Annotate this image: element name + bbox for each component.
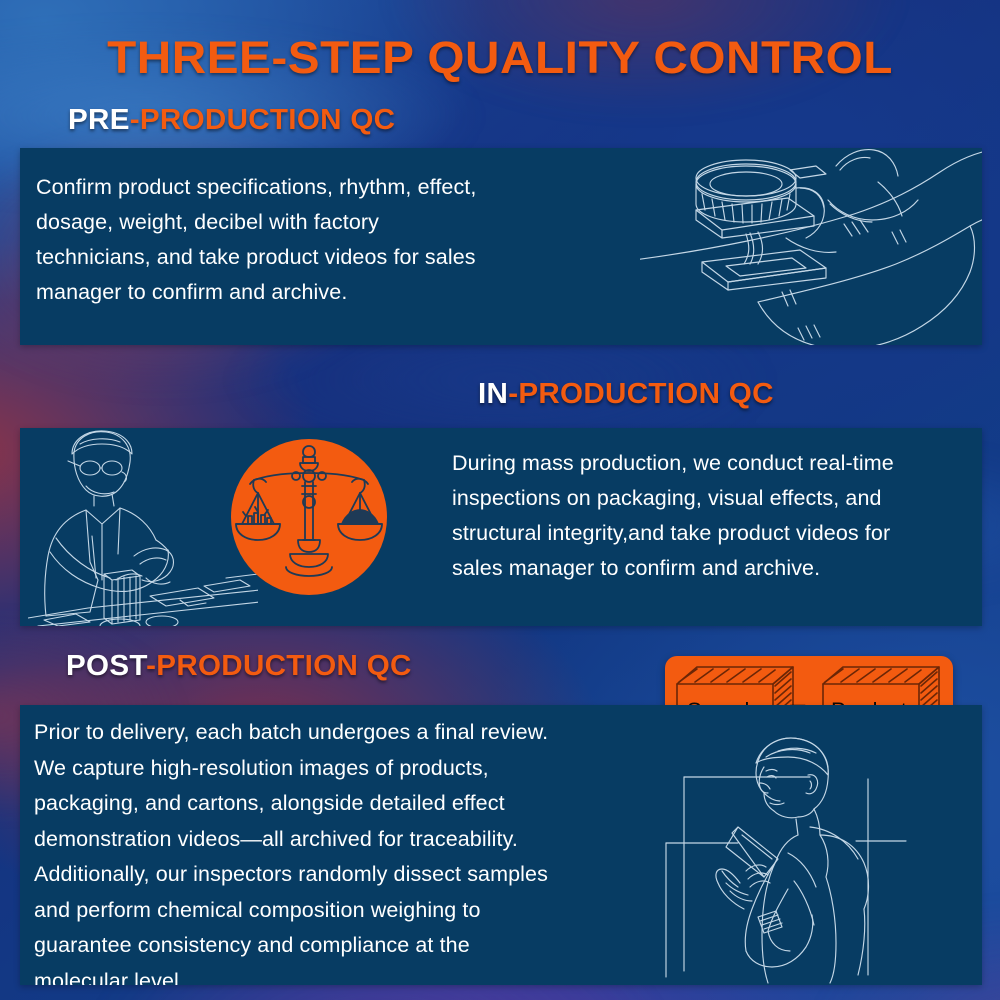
man-with-tablet-sketch — [660, 731, 980, 985]
body-line: Confirm product specifications, rhythm, … — [36, 170, 616, 205]
section-heading-in-production-orange: -PRODUCTION QC — [508, 378, 774, 410]
section-heading-post-production: POST-PRODUCTION QC — [66, 650, 412, 683]
section-heading-pre-production: PRE-PRODUCTION QC — [68, 104, 395, 137]
body-line: sales manager to confirm and archive. — [452, 551, 982, 586]
body-line: structural integrity,and take product vi… — [452, 516, 982, 551]
panel-pre-production-body: Confirm product specifications, rhythm, … — [36, 170, 616, 310]
body-line: packaging, and cartons, alongside detail… — [34, 786, 684, 822]
body-line: guarantee consistency and compliance at … — [34, 928, 684, 964]
section-heading-post-production-white: POST — [66, 650, 146, 682]
body-line: Prior to delivery, each batch undergoes … — [34, 715, 684, 751]
section-heading-in-production: IN-PRODUCTION QC — [478, 378, 774, 411]
section-heading-post-production-orange: -PRODUCTION QC — [146, 650, 412, 682]
section-heading-pre-production-white: PRE — [68, 104, 130, 136]
worker-inspecting-sketch — [28, 430, 258, 626]
section-heading-in-production-white: IN — [478, 378, 508, 410]
page-title: THREE-STEP QUALITY CONTROL — [0, 32, 1000, 84]
section-heading-pre-production-orange: -PRODUCTION QC — [130, 104, 396, 136]
body-line: We capture high-resolution images of pro… — [34, 751, 684, 787]
body-line: manager to confirm and archive. — [36, 275, 616, 310]
body-line: dosage, weight, decibel with factory — [36, 205, 616, 240]
body-line: and perform chemical composition weighin… — [34, 893, 684, 929]
panel-in-production: During mass production, we conduct real-… — [20, 428, 982, 626]
body-line: inspections on packaging, visual effects… — [452, 481, 982, 516]
body-line: Additionally, our inspectors randomly di… — [34, 857, 684, 893]
panel-post-production: Prior to delivery, each batch undergoes … — [20, 705, 982, 985]
panel-pre-production: Confirm product specifications, rhythm, … — [20, 148, 982, 345]
hand-holding-product-sketch — [640, 148, 982, 345]
body-line: During mass production, we conduct real-… — [452, 446, 982, 481]
panel-in-production-body: During mass production, we conduct real-… — [452, 446, 982, 586]
balance-scale-icon — [228, 436, 390, 598]
body-line: molecular level. — [34, 964, 684, 986]
panel-post-production-body: Prior to delivery, each batch undergoes … — [34, 715, 684, 985]
body-line: demonstration videos—all archived for tr… — [34, 822, 684, 858]
body-line: technicians, and take product videos for… — [36, 240, 616, 275]
